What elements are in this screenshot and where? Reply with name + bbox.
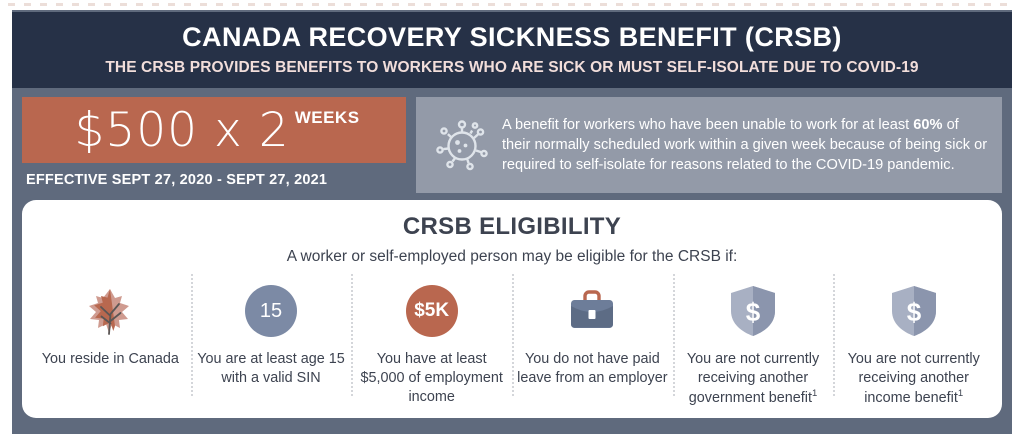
eligibility-item-income-benefit: $ You are not currently receiving anothe… <box>833 280 994 408</box>
eligibility-item-government-benefit: $ You are not currently receiving anothe… <box>673 280 834 408</box>
eligibility-item-income: $5K You have at least $5,000 of employme… <box>351 280 512 408</box>
benefit-amount-block: $500 x 2 WEEKS EFFECTIVE SEPT 27, 2020 -… <box>22 97 406 193</box>
crsb-infographic: CANADA RECOVERY SICKNESS BENEFIT (CRSB) … <box>0 0 1024 440</box>
shield-dollar-icon: $ <box>888 280 940 342</box>
benefit-description-text: A benefit for workers who have been unab… <box>498 115 988 175</box>
age-badge-icon: 15 <box>245 280 297 342</box>
eligibility-item-label: You have at least $5,000 of employment i… <box>356 350 507 407</box>
eligibility-items-list: You reside in Canada 15 You are at least… <box>22 280 1002 408</box>
eligibility-title: CRSB ELIGIBILITY <box>22 213 1002 241</box>
description-text-before: A benefit for workers who have been unab… <box>502 117 913 133</box>
page-subtitle: THE CRSB PROVIDES BENEFITS TO WORKERS WH… <box>105 59 918 77</box>
dotted-pattern <box>8 3 1016 6</box>
briefcase-icon <box>562 280 622 342</box>
benefit-description-panel: A benefit for workers who have been unab… <box>416 97 1002 193</box>
footnote-marker: 1 <box>958 388 963 399</box>
income-badge-icon: $5K <box>406 280 458 342</box>
label-text: You are not currently receiving another … <box>687 351 819 406</box>
effective-dates: EFFECTIVE SEPT 27, 2020 - SEPT 27, 2021 <box>22 172 406 188</box>
eligibility-item-label: You are not currently receiving another … <box>678 350 829 408</box>
header-band: CANADA RECOVERY SICKNESS BENEFIT (CRSB) … <box>12 12 1012 88</box>
benefit-amount-box: $500 x 2 WEEKS <box>22 97 406 163</box>
eligibility-item-label: You are not currently receiving another … <box>838 350 989 408</box>
svg-text:$: $ <box>746 297 761 327</box>
shield-dollar-icon: $ <box>727 280 779 342</box>
eligibility-item-residency: You reside in Canada <box>30 280 191 408</box>
virus-icon <box>426 109 498 181</box>
eligibility-item-age: 15 You are at least age 15 with a valid … <box>191 280 352 408</box>
income-badge-text: $5K <box>406 285 458 337</box>
page-title: CANADA RECOVERY SICKNESS BENEFIT (CRSB) <box>182 23 842 53</box>
eligibility-subtitle: A worker or self-employed person may be … <box>22 248 1002 266</box>
maple-leaf-icon <box>81 280 139 342</box>
top-decorative-strip <box>0 0 1024 10</box>
age-badge-text: 15 <box>245 285 297 337</box>
svg-text:$: $ <box>906 297 921 327</box>
eligibility-item-label: You are at least age 15 with a valid SIN <box>196 350 347 388</box>
eligibility-card: CRSB ELIGIBILITY A worker or self-employ… <box>22 200 1002 418</box>
description-highlight: 60% <box>913 117 942 133</box>
eligibility-item-label: You reside in Canada <box>42 350 179 369</box>
footnote-marker: 1 <box>812 388 817 399</box>
benefit-amount-unit: WEEKS <box>295 108 360 128</box>
eligibility-item-label: You do not have paid leave from an emplo… <box>517 350 668 388</box>
eligibility-item-paid-leave: You do not have paid leave from an emplo… <box>512 280 673 408</box>
benefit-amount-value: $500 x 2 <box>74 107 289 154</box>
